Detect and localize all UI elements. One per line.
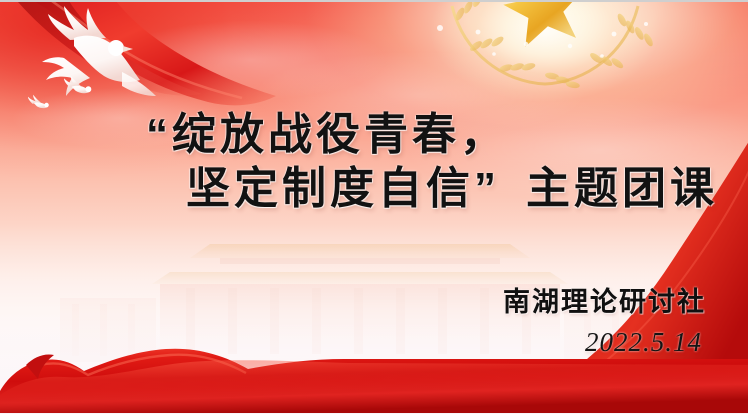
poster-date: 2022.5.14 bbox=[503, 324, 702, 360]
organization-name: 南湖理论研讨社 bbox=[503, 284, 706, 320]
title-line-2: 坚定制度自信” bbox=[186, 164, 500, 213]
title-suffix: 主题团课 bbox=[526, 164, 718, 213]
gold-star-icon bbox=[499, 0, 591, 49]
signature-block: 南湖理论研讨社 2022.5.14 bbox=[503, 284, 706, 360]
title-line-2-row: 坚定制度自信”主题团课 bbox=[0, 162, 748, 216]
top-border-rule bbox=[0, 0, 748, 2]
poster-canvas: “绽放战役青春， 坚定制度自信”主题团课 南湖理论研讨社 2022.5.14 bbox=[0, 0, 748, 414]
national-emblem bbox=[430, 0, 660, 108]
title-line-1: “绽放战役青春， bbox=[0, 108, 748, 162]
poster-title: “绽放战役青春， 坚定制度自信”主题团课 bbox=[0, 108, 748, 216]
